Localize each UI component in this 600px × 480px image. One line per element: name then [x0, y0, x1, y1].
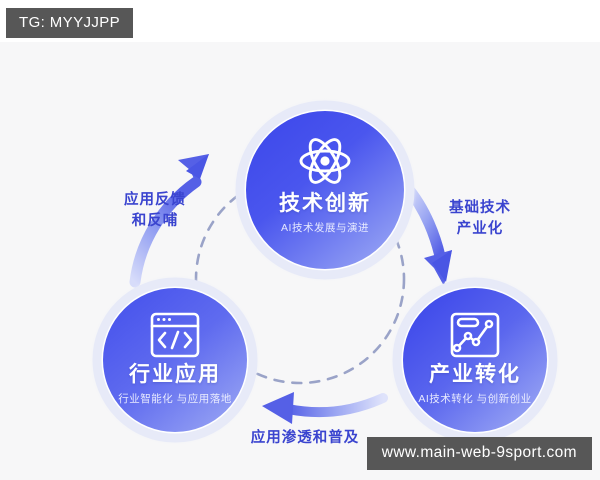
watermark-tag-bottom-right: www.main-web-9sport.com — [367, 437, 592, 470]
node-tech-innovation[interactable] — [233, 98, 417, 282]
cycle-diagram — [0, 42, 600, 480]
node-industry-application[interactable] — [90, 275, 260, 445]
watermark-tag-top-left: TG: MYYJJPP — [6, 8, 133, 38]
node-industrial-transformation[interactable] — [390, 275, 560, 445]
flow-arrow-penetration — [262, 392, 383, 424]
diagram-stage: 技术创新 AI技术发展与演进 行业应用 行业智能化 与应用落地 产业转化 AI技… — [0, 0, 600, 480]
